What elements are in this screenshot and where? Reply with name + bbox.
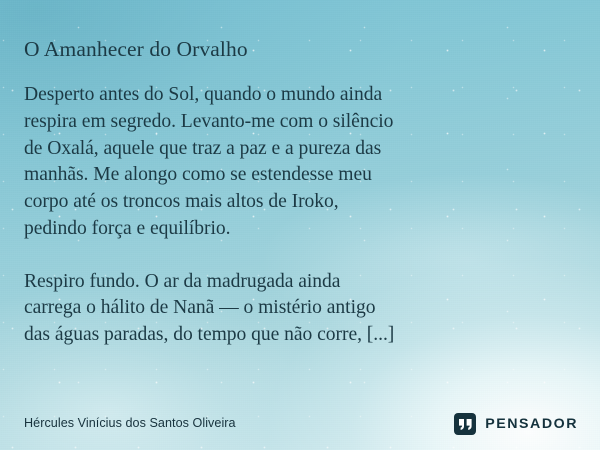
quote-content: O Amanhecer do Orvalho Desperto antes do… bbox=[0, 0, 600, 450]
author-name[interactable]: Hércules Vinícius dos Santos Oliveira bbox=[24, 416, 236, 431]
quote-text-body: Desperto antes do Sol, quando o mundo ai… bbox=[24, 62, 578, 349]
quote-paragraph: Respiro fundo. O ar da madrugada ainda c… bbox=[24, 269, 578, 349]
quote-footer: Hércules Vinícius dos Santos Oliveira PE… bbox=[0, 398, 600, 450]
quote-card: O Amanhecer do Orvalho Desperto antes do… bbox=[0, 0, 600, 450]
quote-title: O Amanhecer do Orvalho bbox=[24, 36, 578, 62]
brand-name: PENSADOR bbox=[485, 416, 578, 432]
pensador-brand-logo[interactable]: PENSADOR bbox=[454, 413, 578, 435]
quote-mark-icon bbox=[454, 413, 476, 435]
quote-paragraph: Desperto antes do Sol, quando o mundo ai… bbox=[24, 82, 578, 242]
